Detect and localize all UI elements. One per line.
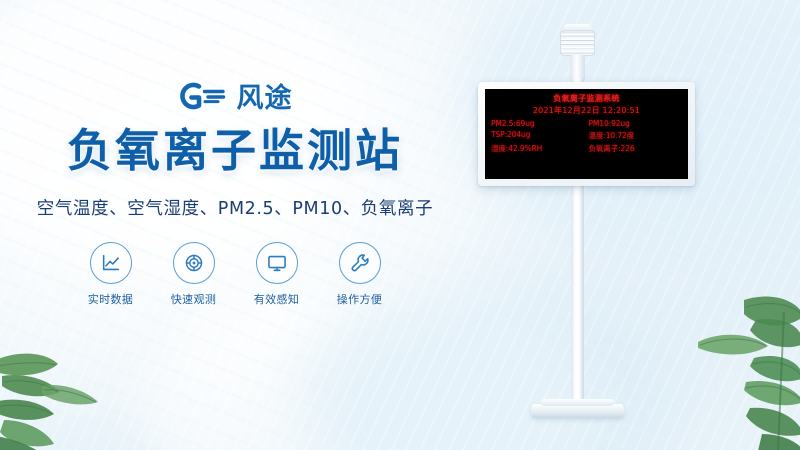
wrench-icon <box>339 242 381 284</box>
monitoring-station-device: 负氧离子监测系统 2021年12月22日 12:20:51 PM2.5:69ug… <box>470 0 800 450</box>
led-screen-datetime: 2021年12月22日 12:20:51 <box>491 105 682 116</box>
line-chart-icon <box>90 242 132 284</box>
feature-item-easy-operation: 操作方便 <box>332 242 388 307</box>
led-display-panel: 负氧离子监测系统 2021年12月22日 12:20:51 PM2.5:69ug… <box>478 82 695 186</box>
feature-item-realtime-data: 实时数据 <box>83 242 139 307</box>
feature-item-fast-observation: 快速观测 <box>166 242 222 307</box>
feature-label: 有效感知 <box>249 291 305 307</box>
feature-label: 操作方便 <box>332 291 388 307</box>
green-leaves-icon <box>0 316 129 450</box>
led-screen-title: 负氧离子监测系统 <box>491 93 682 104</box>
promo-banner: 风途 负氧离子监测站 空气温度、空气湿度、PM2.5、PM10、负氧离子 实时数… <box>0 0 800 450</box>
page-subtitle: 空气温度、空气湿度、PM2.5、PM10、负氧离子 <box>0 195 470 220</box>
led-reading-tsp: TSP:204ug <box>491 130 585 141</box>
brand-name: 风途 <box>237 85 293 112</box>
station-base-plate <box>531 404 624 418</box>
feature-label: 快速观测 <box>166 291 222 307</box>
led-reading-pm25: PM2.5:69ug <box>491 119 585 128</box>
led-reading-pm10: PM10:92ug <box>589 119 683 128</box>
page-title: 负氧离子监测站 <box>0 127 470 176</box>
sensor-louvers <box>560 30 595 56</box>
led-screen: 负氧离子监测系统 2021年12月22日 12:20:51 PM2.5:69ug… <box>485 89 688 179</box>
monitor-icon <box>256 242 298 284</box>
fengtu-g-logo-icon <box>178 80 228 117</box>
promo-text-block: 风途 负氧离子监测站 空气温度、空气湿度、PM2.5、PM10、负氧离子 实时数… <box>0 78 470 307</box>
led-readings-grid: PM2.5:69ug PM10:92ug TSP:204ug 温度:10.72度… <box>491 119 682 154</box>
feature-item-effective-sensing: 有效感知 <box>249 242 305 307</box>
led-reading-negative-oxygen-ion: 负氧离子:226 <box>589 143 683 154</box>
led-reading-humidity: 湿度:42.9%RH <box>491 143 585 154</box>
louvered-radiation-shield-sensor-icon <box>556 24 599 82</box>
radar-scan-icon <box>173 242 215 284</box>
feature-label: 实时数据 <box>83 291 139 307</box>
feature-list: 实时数据 快速观测 <box>0 242 470 307</box>
brand-logo: 风途 <box>0 78 470 118</box>
led-reading-temperature: 温度:10.72度 <box>589 130 683 141</box>
